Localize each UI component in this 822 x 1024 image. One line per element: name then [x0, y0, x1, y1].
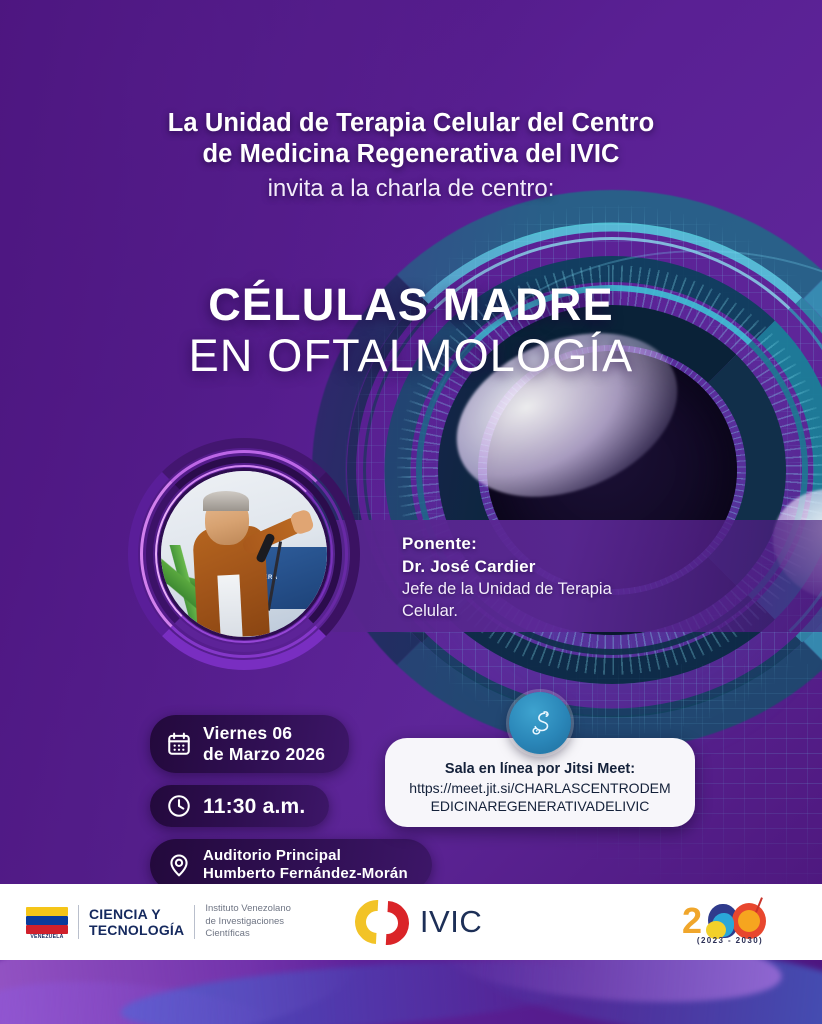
calendar-icon — [166, 731, 192, 757]
bicentennial-blob-4 — [738, 910, 760, 932]
venezuela-flag-icon: ★★★★★★★★ VENEZUELA — [26, 905, 68, 939]
bicentennial-years: (2023 - 2030) — [682, 936, 778, 945]
flag-red-band — [26, 925, 68, 934]
detail-pill-date-text: Viernes 06 de Marzo 2026 — [203, 723, 325, 765]
event-poster: La Unidad de Terapia Celular del Centro … — [0, 0, 822, 1024]
title-line-2: EN OFTALMOLOGÍA — [0, 330, 822, 382]
header-line-1: La Unidad de Terapia Celular del Centro — [0, 108, 822, 139]
speaker-avatar: REGENERA — [128, 438, 360, 670]
online-room-block: Sala en línea por Jitsi Meet: https://me… — [385, 692, 695, 827]
online-room-heading: Sala en línea por Jitsi Meet: — [399, 760, 681, 779]
location-line-2: Humberto Fernández-Morán — [203, 865, 408, 882]
ministry-wordmark: CIENCIA Y TECNOLOGÍA — [89, 906, 184, 938]
ivic-logo: IVIC — [355, 898, 482, 946]
ivic-sphere — [373, 913, 394, 934]
footer-ministry-group: ★★★★★★★★ VENEZUELA CIENCIA Y TECNOLOGÍA … — [0, 903, 291, 941]
flag-yellow-band — [26, 907, 68, 916]
speaker-description-line-2: Celular. — [402, 600, 612, 622]
ivic-wordmark: IVIC — [420, 904, 482, 940]
date-line-1: Viernes 06 — [203, 723, 292, 743]
institute-name: Instituto Venezolano de Investigaciones … — [205, 903, 291, 941]
speaker-description-line-1: Jefe de la Unidad de Terapia — [402, 578, 612, 600]
clock-icon — [166, 793, 192, 819]
speaker-name: Dr. José Cardier — [402, 555, 612, 578]
bottom-wave-strip — [0, 960, 822, 1024]
speaker-photo: REGENERA — [161, 471, 327, 637]
footer-divider-2 — [194, 905, 195, 939]
detail-pill-time-text: 11:30 a.m. — [203, 794, 305, 819]
flag-caption: VENEZUELA — [26, 934, 68, 940]
speaker-info: Ponente: Dr. José Cardier Jefe de la Uni… — [402, 532, 612, 622]
institute-line-3: Científicas — [205, 928, 291, 941]
institute-line-1: Instituto Venezolano — [205, 903, 291, 916]
jitsi-logo-icon — [509, 692, 571, 754]
ministry-line-2: TECNOLOGÍA — [89, 922, 184, 938]
detail-pill-time[interactable]: 11:30 a.m. — [150, 785, 329, 827]
location-pin-icon — [166, 852, 192, 878]
detail-pill-location-text: Auditorio Principal Humberto Fernández-M… — [203, 847, 408, 883]
header-line-2: de Medicina Regenerativa del IVIC — [0, 139, 822, 170]
detail-pill-date[interactable]: Viernes 06 de Marzo 2026 — [150, 715, 349, 773]
header-line-3: invita a la charla de centro: — [0, 172, 822, 206]
photo-speaker-hair — [203, 491, 249, 511]
page-title: CÉLULAS MADRE EN OFTALMOLOGÍA — [0, 280, 822, 382]
bicentennial-number: 2 — [682, 901, 702, 941]
title-line-1: CÉLULAS MADRE — [0, 280, 822, 330]
ministry-line-1: CIENCIA Y — [89, 906, 184, 922]
location-line-1: Auditorio Principal — [203, 847, 341, 864]
flag-blue-band: ★★★★★★★★ — [26, 916, 68, 925]
institute-line-2: de Investigaciones — [205, 916, 291, 929]
photo-speaker-shirt — [217, 574, 242, 637]
poster-header: La Unidad de Terapia Celular del Centro … — [0, 108, 822, 206]
speaker-role-label: Ponente: — [402, 532, 612, 555]
footer-logo-bar: ★★★★★★★★ VENEZUELA CIENCIA Y TECNOLOGÍA … — [0, 884, 822, 960]
bicentennial-mark-icon: 2 (2023 - 2030) — [682, 901, 778, 943]
bicentennial-badge: 2 (2023 - 2030) — [682, 901, 822, 943]
online-room-url-line-1[interactable]: https://meet.jit.si/CHARLASCENTRODEM — [399, 779, 681, 797]
ivic-mark-icon — [355, 898, 411, 946]
date-line-2: de Marzo 2026 — [203, 744, 325, 764]
online-room-url-line-2[interactable]: EDICINAREGENERATIVADELIVIC — [399, 797, 681, 815]
